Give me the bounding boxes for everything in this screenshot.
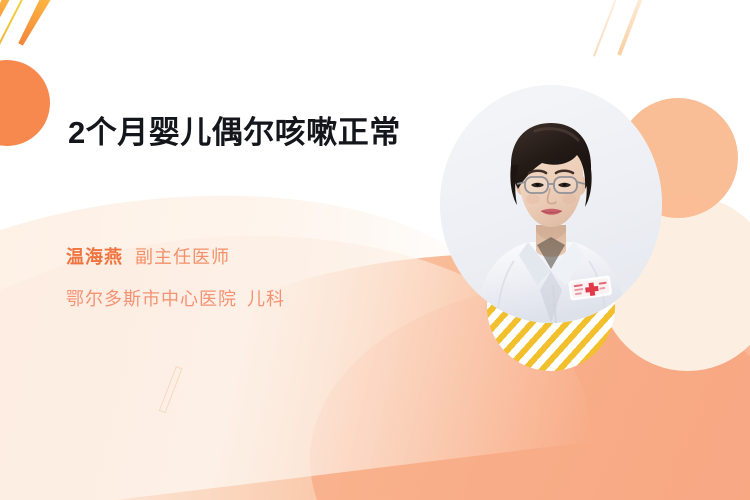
page-title: 2个月婴儿偶尔咳嗽正常 [68,112,428,153]
doctor-credentials: 温海燕副主任医师 [66,248,230,266]
orange-ribbon-stroke-icon [16,0,68,48]
doctor-affiliation: 鄂尔多斯市中心医院儿科 [66,290,285,308]
orange-circle-decoration [0,60,50,146]
yellow-thin-stroke-icon [0,0,44,68]
hospital-name: 鄂尔多斯市中心医院 [66,289,237,309]
video-cover-card: 2个月婴儿偶尔咳嗽正常 温海燕副主任医师 鄂尔多斯市中心医院儿科 [0,0,750,500]
cream-thin-stroke-icon [617,0,652,56]
hospital-department: 儿科 [247,289,285,309]
cream-outline-stroke-icon [159,366,183,413]
doctor-portrait-photo [440,85,662,323]
cream-thin-stroke-icon [593,0,627,56]
orange-ribbon-stroke-icon [0,0,32,34]
doctor-name: 温海燕 [66,247,123,267]
cream-thin-stroke-icon [449,372,464,406]
doctor-rank: 副主任医师 [135,247,230,267]
portrait-blend-overlay [436,300,668,340]
pale-wave-upper-decoration [0,146,512,472]
